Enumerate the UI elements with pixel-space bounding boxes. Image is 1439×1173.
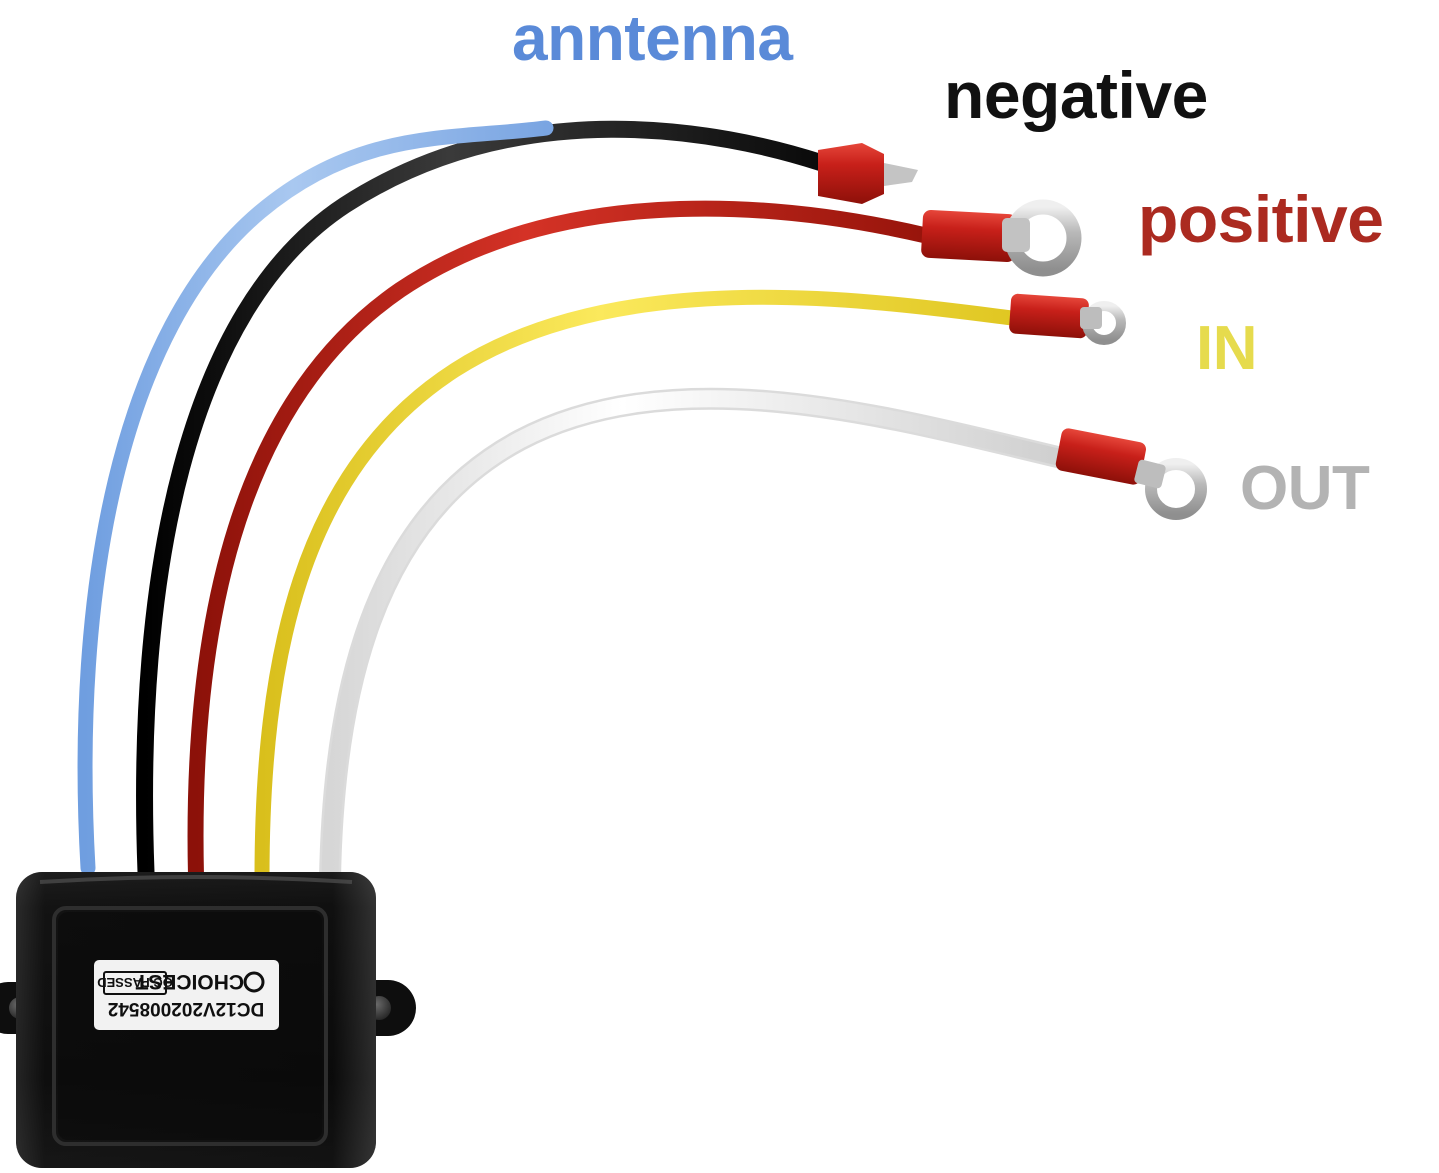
in-terminal-barrel	[1080, 307, 1102, 329]
wiring-illustration: DC12V202008542 CHOICEST QC PASSED	[0, 0, 1439, 1173]
label-positive: positive	[1138, 186, 1383, 252]
sticker-qc-mark: QC PASSED	[97, 975, 173, 990]
control-module: DC12V202008542 CHOICEST QC PASSED	[0, 872, 416, 1168]
negative-terminal-sleeve	[818, 143, 884, 204]
label-out: OUT	[1240, 458, 1369, 520]
label-antenna: anntenna	[512, 6, 792, 70]
in-terminal-sleeve	[1009, 293, 1090, 338]
label-negative: negative	[944, 62, 1208, 128]
sticker-part-code: DC12V202008542	[108, 998, 264, 1019]
label-in: IN	[1196, 318, 1257, 380]
product-photo-canvas: DC12V202008542 CHOICEST QC PASSED annten…	[0, 0, 1439, 1173]
positive-terminal-barrel	[1002, 218, 1030, 252]
module-sticker: DC12V202008542 CHOICEST QC PASSED	[94, 960, 279, 1030]
